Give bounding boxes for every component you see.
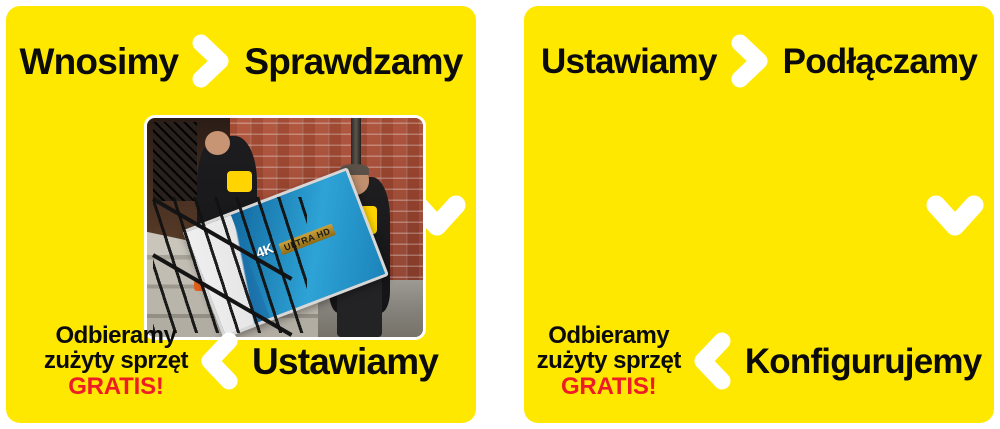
reclaim-offer-left: Odbieramy zużyty sprzęt GRATIS! bbox=[44, 323, 188, 399]
reclaim-line-1: Odbieramy bbox=[55, 323, 176, 348]
step-label-ustawiamy-top: Ustawiamy bbox=[541, 44, 717, 79]
service-steps-panel-left: Wnosimy Sprawdzamy bbox=[6, 6, 476, 423]
steps-row-bottom-left: Odbieramy zużyty sprzęt GRATIS! Ustawiam… bbox=[6, 315, 476, 407]
chevron-left-icon bbox=[689, 329, 737, 393]
chevron-left-icon bbox=[196, 329, 244, 393]
reclaim-line-2: zużyty sprzęt bbox=[537, 348, 681, 373]
step-label-wnosimy: Wnosimy bbox=[19, 43, 178, 80]
reclaim-offer-right: Odbieramy zużyty sprzęt GRATIS! bbox=[537, 323, 681, 399]
steps-row-top-right: Ustawiamy Podłączamy bbox=[524, 30, 994, 92]
chevron-right-icon bbox=[727, 32, 773, 90]
steps-row-top-left: Wnosimy Sprawdzamy bbox=[6, 30, 476, 92]
chevron-down-icon bbox=[924, 192, 986, 242]
reclaim-line-1: Odbieramy bbox=[548, 323, 669, 348]
step-label-sprawdzamy: Sprawdzamy bbox=[244, 43, 462, 80]
step-label-ustawiamy: Ustawiamy bbox=[252, 343, 438, 380]
step-label-konfigurujemy: Konfigurujemy bbox=[745, 344, 982, 379]
chevron-right-icon bbox=[188, 32, 234, 90]
reclaim-line-2: zużyty sprzęt bbox=[44, 348, 188, 373]
service-steps-panel-right: Ustawiamy Podłączamy bbox=[524, 6, 994, 423]
reclaim-free-badge: GRATIS! bbox=[561, 374, 656, 399]
photo-delivery-carrying-tv: 4K ULTRA HD bbox=[147, 118, 423, 337]
promo-banner: Wnosimy Sprawdzamy bbox=[0, 0, 1000, 429]
steps-row-bottom-right: Odbieramy zużyty sprzęt GRATIS! Konfigur… bbox=[524, 315, 994, 407]
reclaim-free-badge: GRATIS! bbox=[68, 374, 163, 399]
step-label-podlaczamy: Podłączamy bbox=[783, 44, 977, 79]
